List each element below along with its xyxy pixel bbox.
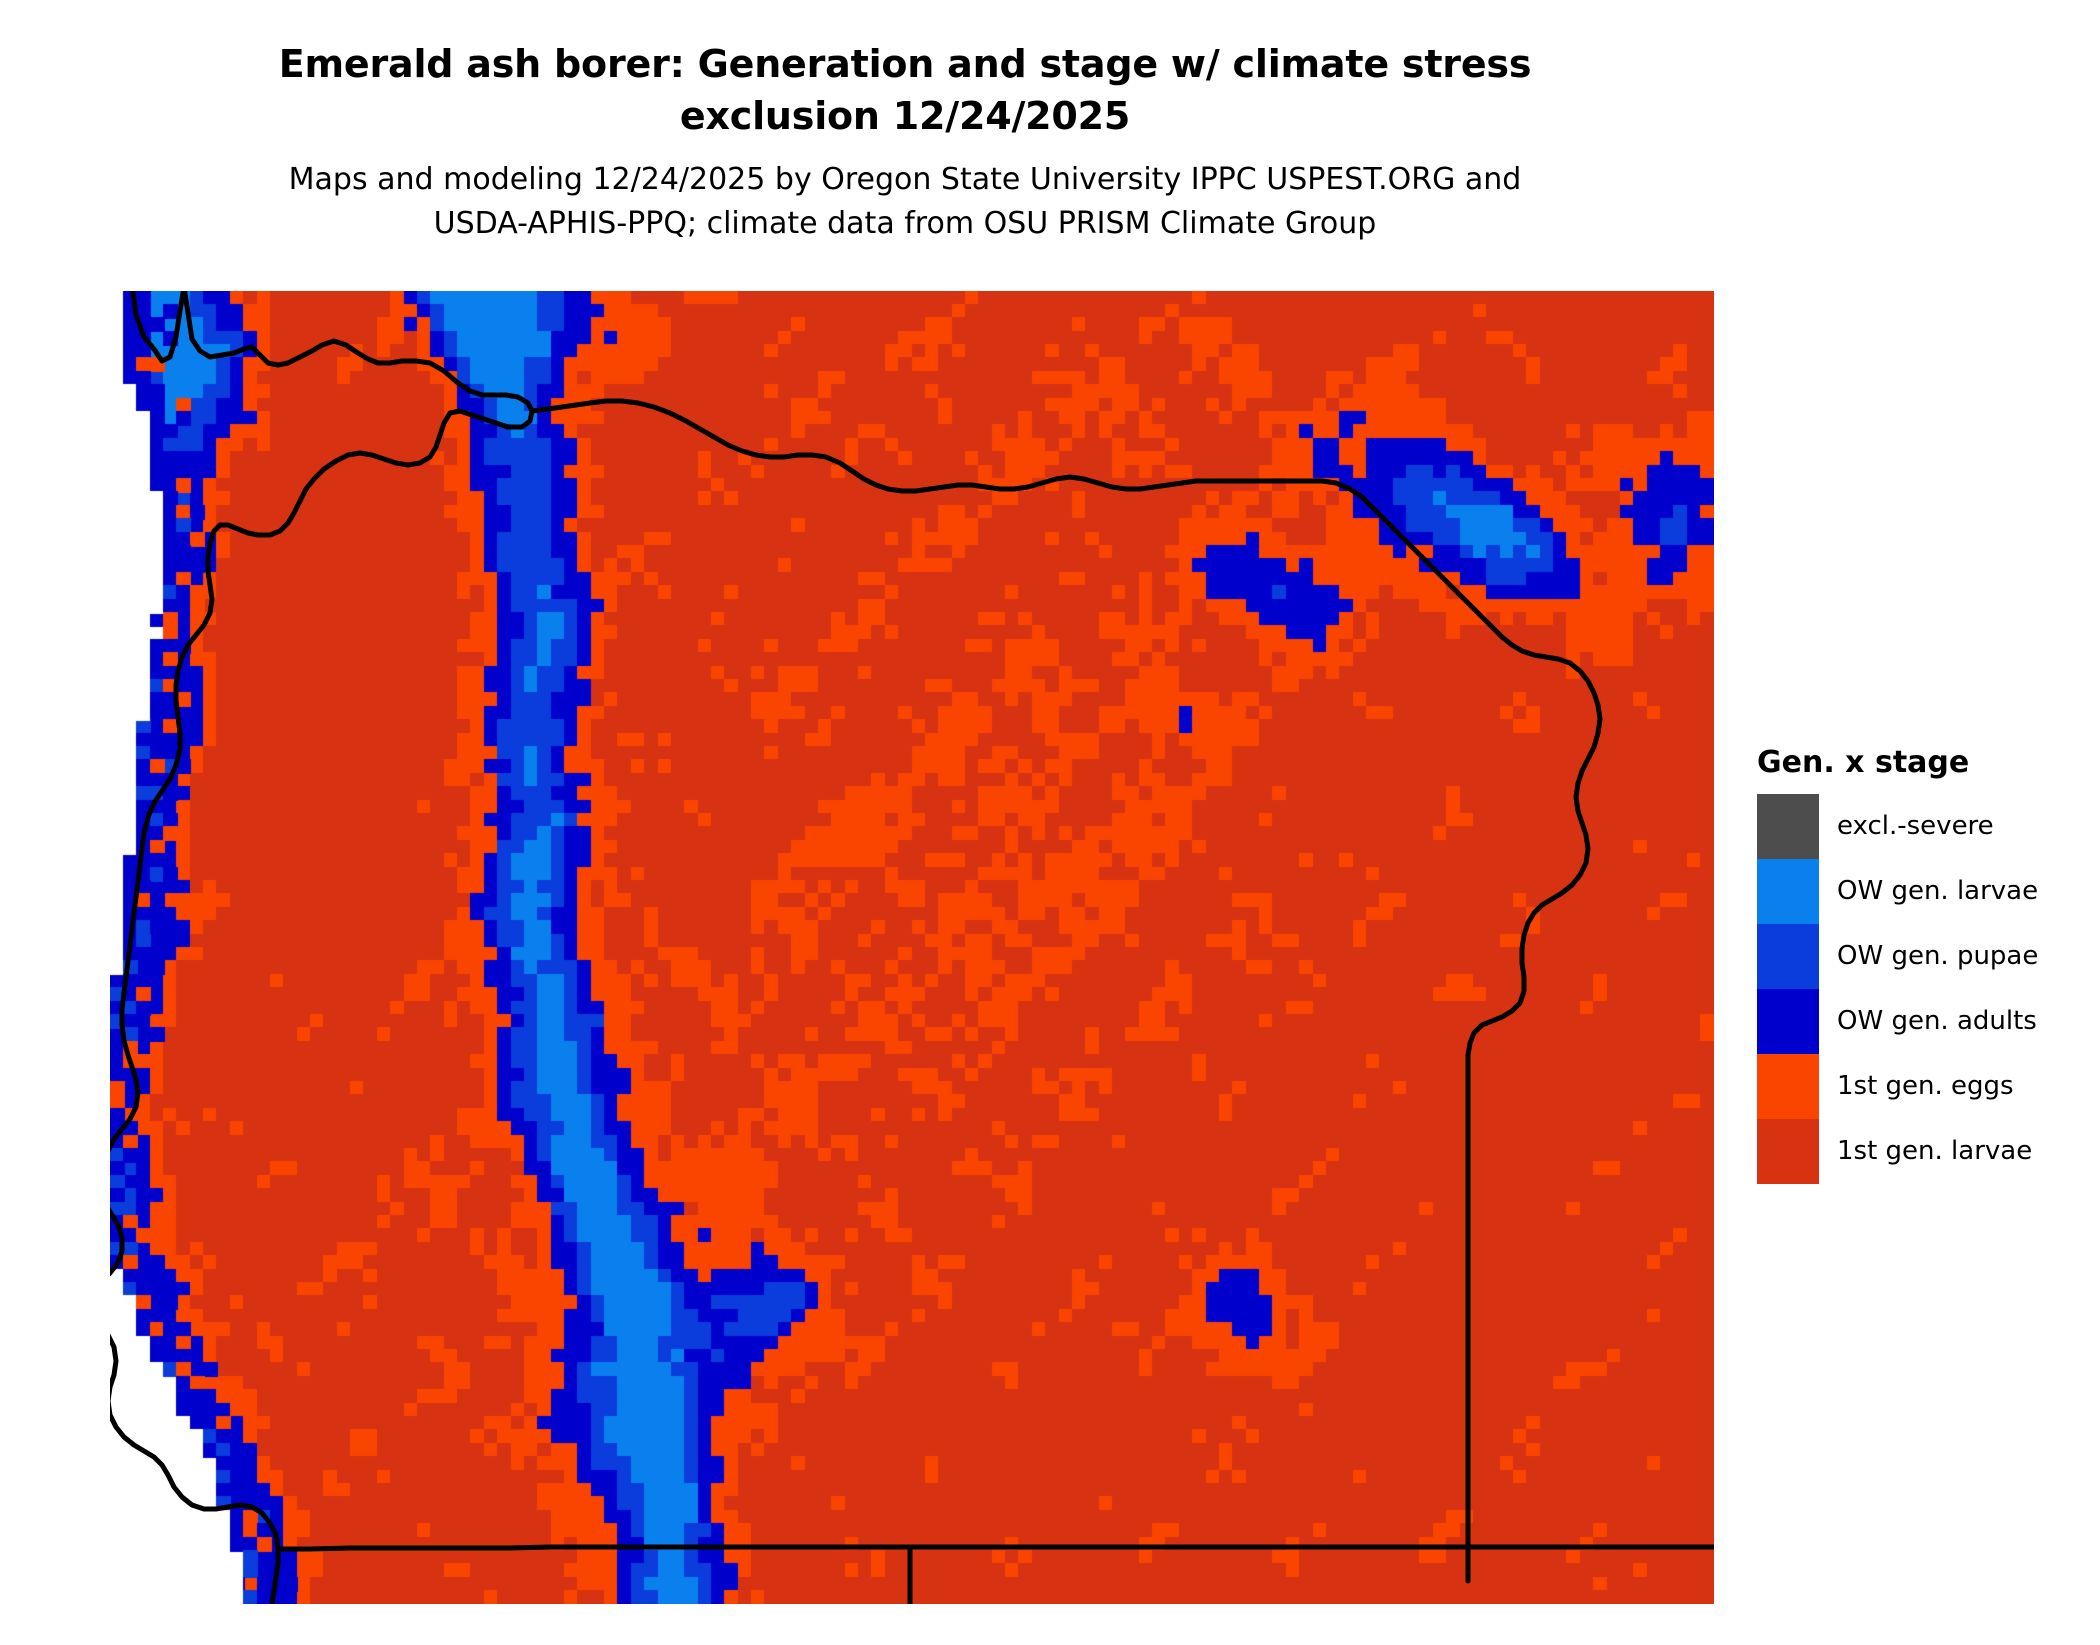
title-block: Emerald ash borer: Generation and stage …: [0, 38, 1810, 246]
legend-row[interactable]: OW gen. adults: [1757, 989, 2038, 1054]
oregon-boundary-lines: [110, 291, 1714, 1604]
legend-label: 1st gen. larvae: [1819, 1119, 2032, 1184]
legend-row[interactable]: excl.-severe: [1757, 794, 2038, 859]
page-title: Emerald ash borer: Generation and stage …: [0, 38, 1810, 142]
south-border-path: [278, 1547, 1714, 1549]
legend-color-swatch: [1757, 1119, 1819, 1184]
coastline-path: [110, 291, 532, 1604]
page-subtitle: Maps and modeling 12/24/2025 by Oregon S…: [0, 142, 1810, 246]
legend-row[interactable]: 1st gen. larvae: [1757, 1119, 2038, 1184]
legend-label: OW gen. pupae: [1819, 924, 2038, 989]
legend-label: OW gen. larvae: [1819, 859, 2038, 924]
columbia-river-border-path: [532, 401, 1492, 627]
legend-color-swatch: [1757, 924, 1819, 989]
legend-row[interactable]: OW gen. larvae: [1757, 859, 2038, 924]
legend-row[interactable]: OW gen. pupae: [1757, 924, 2038, 989]
legend-label: excl.-severe: [1819, 794, 1994, 859]
legend-label: 1st gen. eggs: [1819, 1054, 2014, 1119]
legend-color-swatch: [1757, 1054, 1819, 1119]
legend-title: Gen. x stage: [1757, 745, 2038, 780]
legend-row[interactable]: 1st gen. eggs: [1757, 1054, 2038, 1119]
north-border-path: [132, 291, 184, 361]
snake-river-border-path: [1468, 627, 1600, 1111]
legend: Gen. x stage excl.-severeOW gen. larvaeO…: [1757, 745, 2038, 1184]
legend-label: OW gen. adults: [1819, 989, 2037, 1054]
legend-color-swatch: [1757, 859, 1819, 924]
legend-color-swatch: [1757, 794, 1819, 859]
legend-rows: excl.-severeOW gen. larvaeOW gen. pupaeO…: [1757, 794, 2038, 1184]
state-boundary-overlay: [110, 291, 1714, 1604]
map-canvas-area[interactable]: [110, 291, 1714, 1604]
legend-color-swatch: [1757, 989, 1819, 1054]
map-page: Emerald ash borer: Generation and stage …: [0, 0, 2100, 1645]
